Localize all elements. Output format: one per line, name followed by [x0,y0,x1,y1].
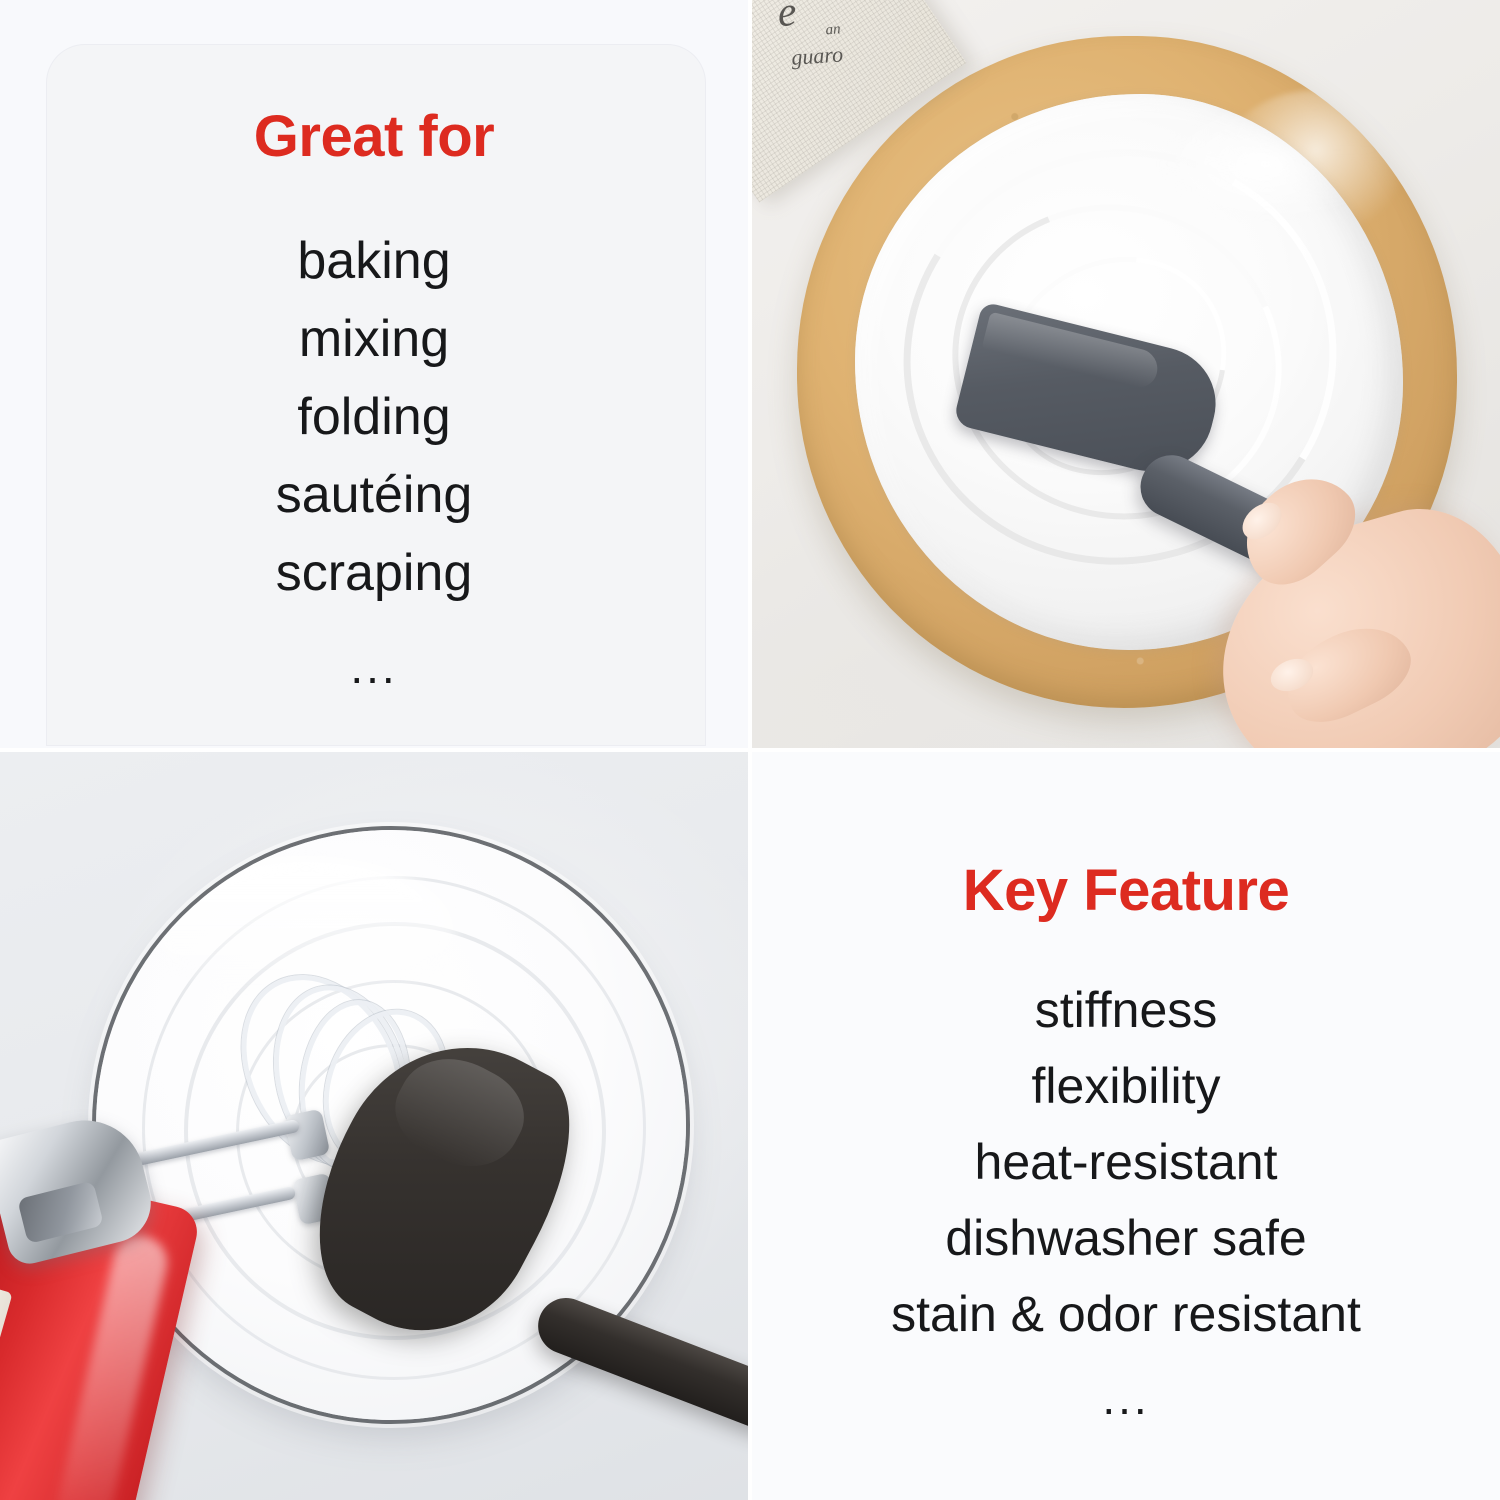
product-infographic: Great for baking mixing folding sautéing… [0,0,1500,1500]
list-item: scraping [0,534,748,612]
mixer-stripe [0,1282,13,1500]
list-item: baking [0,222,748,300]
list-item: sautéing [0,456,748,534]
panel-cake-photo: e guaro an [752,0,1500,748]
key-feature-heading: Key Feature [752,862,1500,920]
mixer-highlight [52,1231,172,1500]
list-item: heat-resistant [752,1124,1500,1200]
panel-great-for: Great for baking mixing folding sautéing… [0,0,748,748]
list-item: flexibility [752,1048,1500,1124]
bowl-scene [0,752,748,1500]
panel-key-feature: Key Feature stiffness flexibility heat-r… [752,752,1500,1500]
panel-bowl-photo [0,752,748,1500]
frosting-highlight [1157,104,1377,224]
list-item: mixing [0,300,748,378]
towel-script-text: guaro [790,41,843,71]
great-for-list: baking mixing folding sautéing scraping … [0,222,748,722]
list-ellipsis: ... [0,612,748,722]
list-item: folding [0,378,748,456]
great-for-heading: Great for [0,108,748,166]
towel-script-text: e [776,0,798,37]
key-feature-list: stiffness flexibility heat-resistant dis… [752,972,1500,1444]
list-item: stiffness [752,972,1500,1048]
towel-script-text: an [825,21,841,39]
list-item: stain & odor resistant [752,1276,1500,1352]
list-item: dishwasher safe [752,1200,1500,1276]
list-ellipsis: ... [752,1352,1500,1444]
cake-scene: e guaro an [752,0,1500,748]
